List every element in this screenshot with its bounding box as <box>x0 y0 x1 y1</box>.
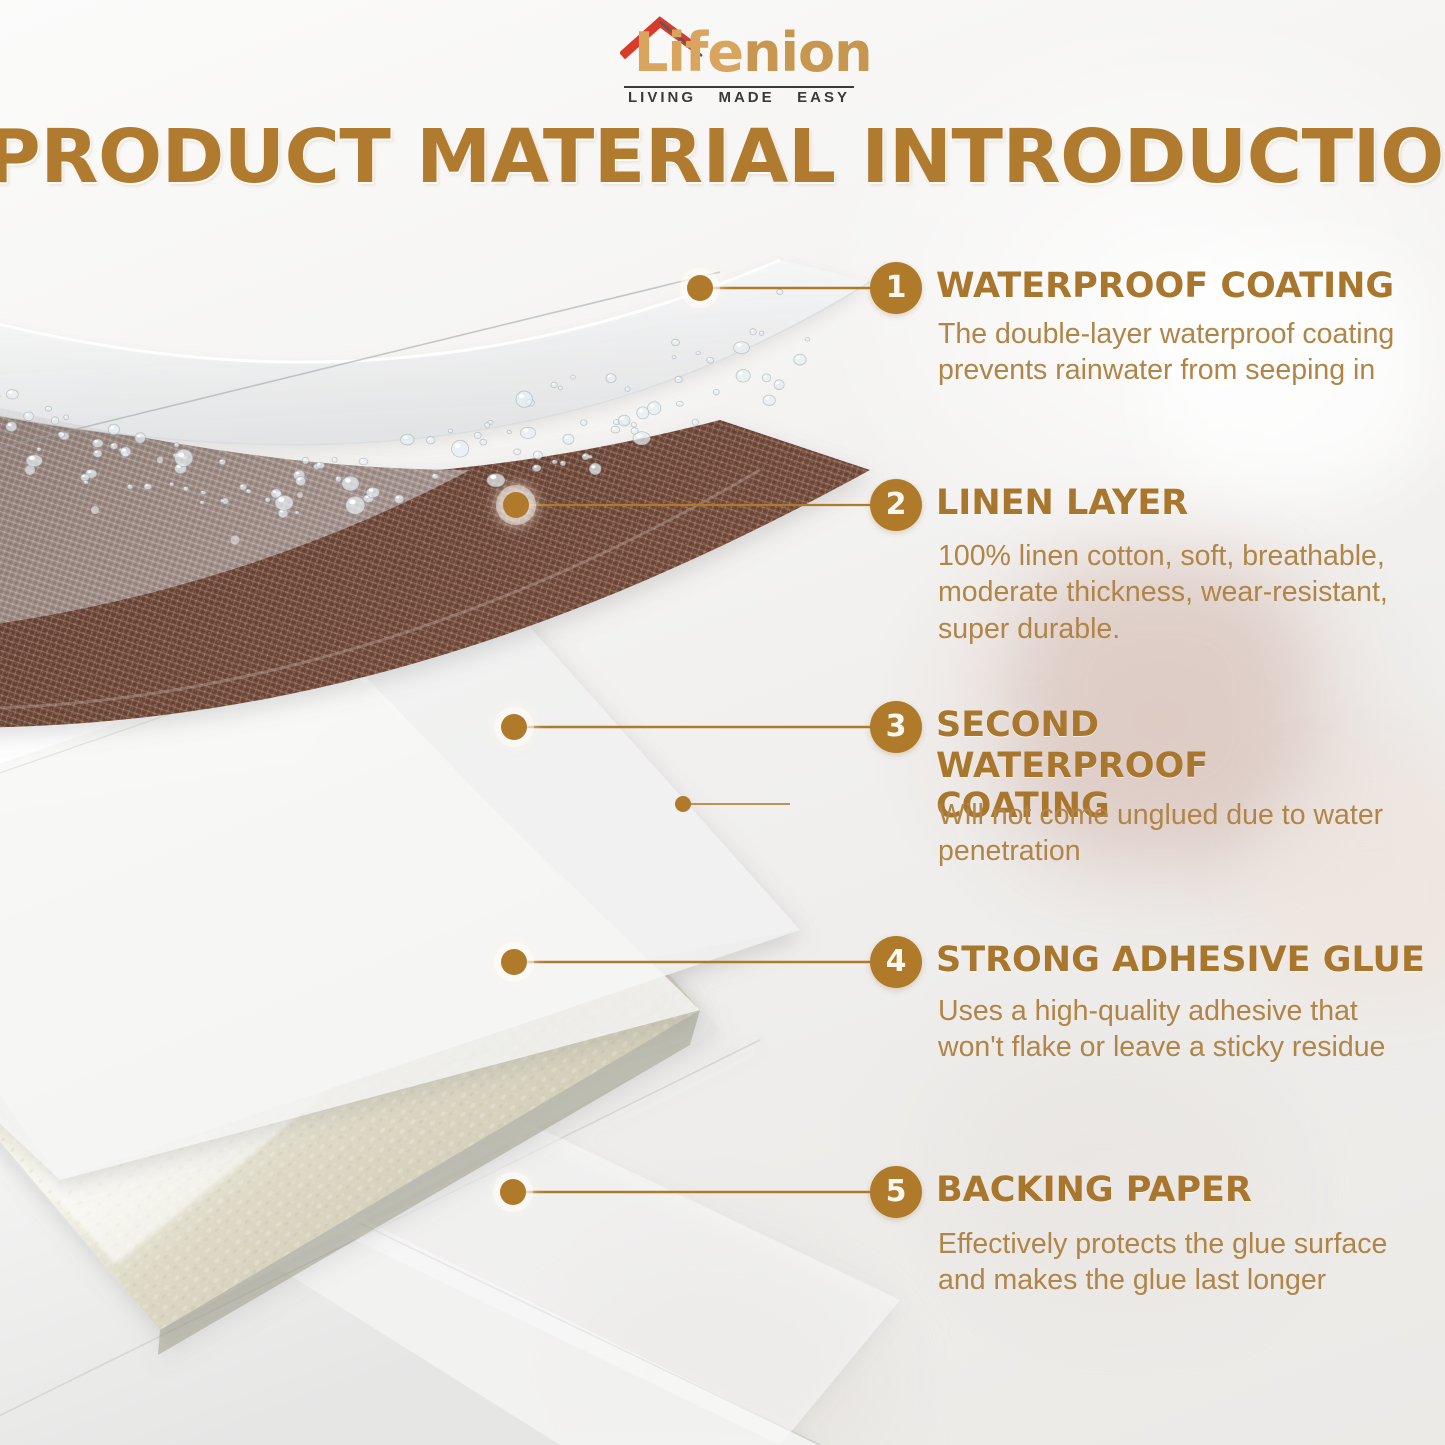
infographic-canvas: Lifenion LIVING MADE EASY PRODUCT MATERI… <box>0 0 1445 1445</box>
callout-dot-2[interactable] <box>503 492 529 518</box>
callout-number-badge-4: 4 <box>870 936 922 988</box>
callout-body-5: Effectively protects the glue surface an… <box>938 1226 1408 1299</box>
callout-title-1: WATERPROOF COATING <box>936 266 1436 307</box>
callout-body-3: Will not come unglued due to water penet… <box>938 797 1393 870</box>
callout-body-1: The double-layer waterproof coating prev… <box>938 316 1408 389</box>
callout-dot-5[interactable] <box>500 1179 526 1205</box>
callout-title-4: STRONG ADHESIVE GLUE <box>936 940 1436 981</box>
callout-dot-4[interactable] <box>501 949 527 975</box>
callout-body-2: 100% linen cotton, soft, breathable, mod… <box>938 538 1413 647</box>
callout-dot-1[interactable] <box>687 275 713 301</box>
callout-title-2: LINEN LAYER <box>936 483 1436 524</box>
callout-number-badge-5: 5 <box>870 1166 922 1218</box>
callout-body-4: Uses a high-quality adhesive that won't … <box>938 993 1408 1066</box>
callout-dot-3[interactable] <box>501 714 527 740</box>
callout-title-5: BACKING PAPER <box>936 1170 1436 1211</box>
callout-number-badge-2: 2 <box>870 479 922 531</box>
callout-dot-3b[interactable] <box>675 796 691 812</box>
callout-number-badge-1: 1 <box>870 262 922 314</box>
callout-number-badge-3: 3 <box>870 701 922 753</box>
